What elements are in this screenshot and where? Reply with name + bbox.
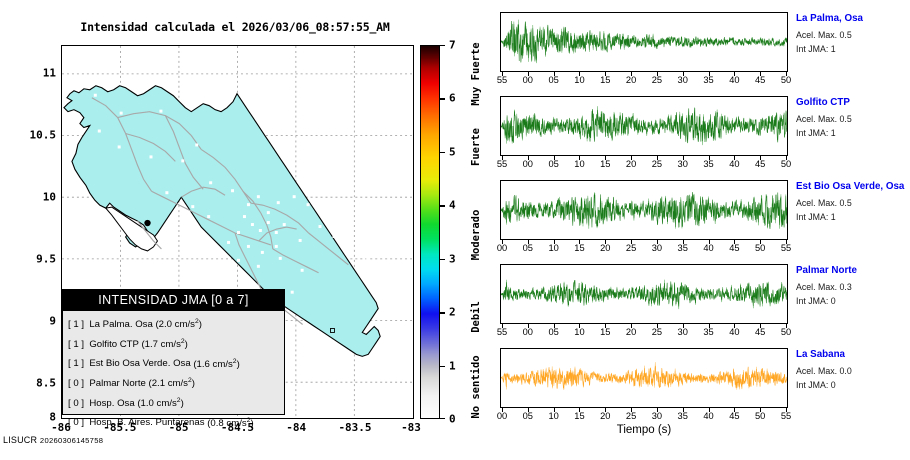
station-jma: Int JMA: 0 [796,295,910,309]
seismogram-panel[interactable]: 000510152025303540455055Est Bio Osa Verd… [500,180,788,240]
legend-row: [ 0 ] Palmar Norte (2.1 cm/s2) [68,373,284,393]
y-tick: 10 [43,191,56,204]
panel-tick-label: 25 [652,327,662,337]
panel-tick-label: 15 [574,243,584,253]
legend-level: [ 1 ] [68,359,84,370]
colorbar-tick-label: 2 [449,306,456,319]
colorbar-tick-label: 0 [449,413,456,426]
panel-tick-label: 40 [729,159,739,169]
colorbar-category-label: Muy Fuerte [470,43,482,106]
panel-tick-label: 55 [781,411,791,421]
panel-tick-label: 50 [755,411,765,421]
colorbar-tick [440,152,445,153]
panel-x-axis: 000510152025303540455055 [500,408,788,424]
colorbar-tick [440,205,445,206]
panel-tick-label: 15 [600,75,610,85]
station-name[interactable]: La Palma, Osa [796,12,910,25]
panel-tick-label: 55 [497,159,507,169]
panel-info: Palmar NorteAcel. Max. 0.3Int JMA: 0 [796,264,910,308]
legend-accel: (0.8 cm/s2) [207,418,253,429]
station-name[interactable]: La Sabana [796,348,910,361]
waveform-plot[interactable] [500,96,788,156]
panel-tick-label: 00 [497,243,507,253]
legend-accel: (1.7 cm/s2) [141,339,187,350]
panel-tick-label: 50 [781,159,791,169]
waveform-trace [501,349,787,407]
panel-tick-label: 30 [678,75,688,85]
seismic-intensity-report: Intensidad calculada el 2026/03/06_08:57… [0,0,910,460]
legend-accel: (1.0 cm/s2) [137,398,183,409]
panel-tick-label: 05 [523,411,533,421]
page-title: Intensidad calculada el 2026/03/06_08:57… [60,20,410,34]
intensity-legend: INTENSIDAD JMA [0 a 7] [ 1 ] La Palma. O… [62,289,285,415]
station-accel: Acel. Max. 0.0 [796,365,910,379]
station-name[interactable]: Est Bio Osa Verde, Osa [796,180,910,193]
panel-tick-label: 20 [600,243,610,253]
waveform-trace [501,265,787,323]
legend-row: [ 1 ] La Palma. Osa (2.0 cm/s2) [68,314,284,334]
panel-tick-label: 30 [652,243,662,253]
station-accel: Acel. Max. 0.5 [796,29,910,43]
legend-row: [ 0 ] Hosp. Osa (1.0 cm/s2) [68,393,284,413]
panel-tick-label: 10 [574,159,584,169]
x-tick: -83.5 [338,421,371,434]
station-accel: Acel. Max. 0.5 [796,113,910,127]
x-tick: -84 [286,421,306,434]
y-tick: 8.5 [36,377,56,390]
panel-tick-label: 45 [755,75,765,85]
waveform-plot[interactable] [500,180,788,240]
x-axis-title: Tiempo (s) [500,424,788,436]
station-jma: Int JMA: 1 [796,43,910,57]
y-tick: 9.5 [36,253,56,266]
panel-info: Golfito CTPAcel. Max. 0.5Int JMA: 1 [796,96,910,140]
legend-accel: (2.0 cm/s2) [155,319,201,330]
panel-tick-label: 20 [626,159,636,169]
colorbar-tick [440,259,445,260]
y-tick: 9 [49,315,56,328]
panel-tick-label: 05 [548,159,558,169]
legend-station: Est Bio Osa Verde. Osa [89,359,190,370]
panel-tick-label: 25 [652,159,662,169]
colorbar-category-label: No sentido [470,355,482,418]
panel-x-axis: 550005101520253035404550 [500,324,788,340]
legend-level: [ 1 ] [68,339,84,350]
colorbar-tick-label: 3 [449,252,456,265]
panel-tick-label: 25 [626,411,636,421]
legend-row: [ 1 ] Est Bio Osa Verde. Osa (1.6 cm/s2) [68,353,284,373]
waveform-trace [501,13,787,71]
panel-tick-label: 25 [626,243,636,253]
waveform-trace [501,97,787,155]
panel-tick-label: 40 [703,243,713,253]
legend-accel: (1.6 cm/s2) [193,359,239,370]
panel-tick-label: 30 [652,411,662,421]
legend-level: [ 0 ] [68,398,84,409]
seismogram-panel[interactable]: 550005101520253035404550Golfito CTPAcel.… [500,96,788,156]
panel-tick-label: 00 [523,327,533,337]
panel-info: La Palma, OsaAcel. Max. 0.5Int JMA: 1 [796,12,910,56]
panel-tick-label: 20 [600,411,610,421]
panel-tick-label: 25 [652,75,662,85]
panel-tick-label: 10 [574,327,584,337]
seismogram-panel[interactable]: 550005101520253035404550Palmar NorteAcel… [500,264,788,324]
colorbar-tick-label: 5 [449,145,456,158]
waveform-trace [501,181,787,239]
panel-tick-label: 45 [755,159,765,169]
panel-x-axis: 550005101520253035404550 [500,156,788,172]
footer-agency: LISUCR [3,435,37,445]
panel-tick-label: 05 [548,75,558,85]
legend-station: Golfito CTP [89,339,138,350]
panel-tick-label: 00 [497,411,507,421]
waveform-plot[interactable] [500,12,788,72]
footer-credit: LISUCR 20260306145758 [3,435,103,445]
panel-tick-label: 00 [523,75,533,85]
panel-tick-label: 15 [600,159,610,169]
colorbar-category-label: Debil [470,302,482,334]
legend-level: [ 0 ] [68,418,84,429]
panel-info: La SabanaAcel. Max. 0.0Int JMA: 0 [796,348,910,392]
panel-tick-label: 30 [678,159,688,169]
legend-rows: [ 1 ] La Palma. Osa (2.0 cm/s2)[ 1 ] Gol… [63,311,284,432]
seismogram-panel[interactable]: 550005101520253035404550La Palma, OsaAce… [500,12,788,72]
panel-tick-label: 10 [548,411,558,421]
panel-tick-label: 05 [548,327,558,337]
y-tick: 11 [43,67,56,80]
colorbar-tick [440,45,445,46]
legend-station: La Palma. Osa [89,319,152,330]
panel-tick-label: 30 [678,327,688,337]
panel-tick-label: 00 [523,159,533,169]
legend-station: Palmar Norte [89,378,146,389]
colorbar-gradient [420,45,440,419]
panel-tick-label: 50 [755,243,765,253]
colorbar-category-label: Moderado [470,209,482,260]
seismogram-panel[interactable]: 000510152025303540455055La SabanaAcel. M… [500,348,788,408]
panel-info: Est Bio Osa Verde, OsaAcel. Max. 0.5Int … [796,180,910,224]
panel-tick-label: 55 [781,243,791,253]
panel-tick-label: 55 [497,327,507,337]
panel-x-axis: 000510152025303540455055 [500,240,788,256]
panel-tick-label: 40 [729,327,739,337]
colorbar-tick-label: 7 [449,39,456,52]
panel-tick-label: 35 [703,75,713,85]
panel-tick-label: 50 [781,327,791,337]
panel-x-axis: 550005101520253035404550 [500,72,788,88]
panel-tick-label: 20 [626,75,636,85]
legend-row: [ 0 ] Hosp. B. Aires. Puntarenas (0.8 cm… [68,412,284,432]
panel-tick-label: 45 [729,243,739,253]
station-name[interactable]: Palmar Norte [796,264,910,277]
panel-tick-label: 10 [548,243,558,253]
station-jma: Int JMA: 1 [796,127,910,141]
station-accel: Acel. Max. 0.3 [796,281,910,295]
legend-level: [ 0 ] [68,378,84,389]
legend-level: [ 1 ] [68,319,84,330]
panel-tick-label: 45 [729,411,739,421]
panel-tick-label: 35 [678,243,688,253]
station-jma: Int JMA: 0 [796,379,910,393]
waveform-plot[interactable] [500,264,788,324]
legend-header: INTENSIDAD JMA [0 a 7] [63,290,284,311]
panel-tick-label: 15 [574,411,584,421]
panel-tick-label: 40 [703,411,713,421]
panel-tick-label: 20 [626,327,636,337]
panel-tick-label: 35 [703,159,713,169]
y-tick: 10.5 [30,129,57,142]
colorbar-tick [440,418,445,419]
legend-station: Hosp. B. Aires. Puntarenas [89,418,204,429]
colorbar-tick [440,312,445,313]
station-accel: Acel. Max. 0.5 [796,197,910,211]
intensity-colorbar: 01234567No sentidoDebilModeradoFuerteMuy… [420,45,490,419]
colorbar-category-label: Fuerte [470,128,482,166]
waveform-plot[interactable] [500,348,788,408]
station-name[interactable]: Golfito CTP [796,96,910,109]
panel-tick-label: 35 [703,327,713,337]
panel-tick-label: 35 [678,411,688,421]
legend-station: Hosp. Osa [89,398,134,409]
epicenter-marker [144,220,150,226]
legend-accel: (2.1 cm/s2) [149,378,195,389]
seismogram-panels: 550005101520253035404550La Palma, OsaAce… [500,12,910,442]
station-jma: Int JMA: 1 [796,211,910,225]
panel-tick-label: 05 [523,243,533,253]
colorbar-tick [440,366,445,367]
colorbar-tick-label: 4 [449,199,456,212]
panel-tick-label: 10 [574,75,584,85]
panel-tick-label: 50 [781,75,791,85]
colorbar-tick-label: 1 [449,359,456,372]
colorbar-tick [440,98,445,99]
legend-row: [ 1 ] Golfito CTP (1.7 cm/s2) [68,334,284,354]
colorbar-tick-label: 6 [449,92,456,105]
panel-tick-label: 40 [729,75,739,85]
panel-tick-label: 55 [497,75,507,85]
panel-tick-label: 45 [755,327,765,337]
x-tick: -83 [401,421,421,434]
map-y-axis: 11 10.5 10 9.5 9 8.5 8 [0,45,56,419]
footer-code: 20260306145758 [40,436,103,445]
panel-tick-label: 15 [600,327,610,337]
